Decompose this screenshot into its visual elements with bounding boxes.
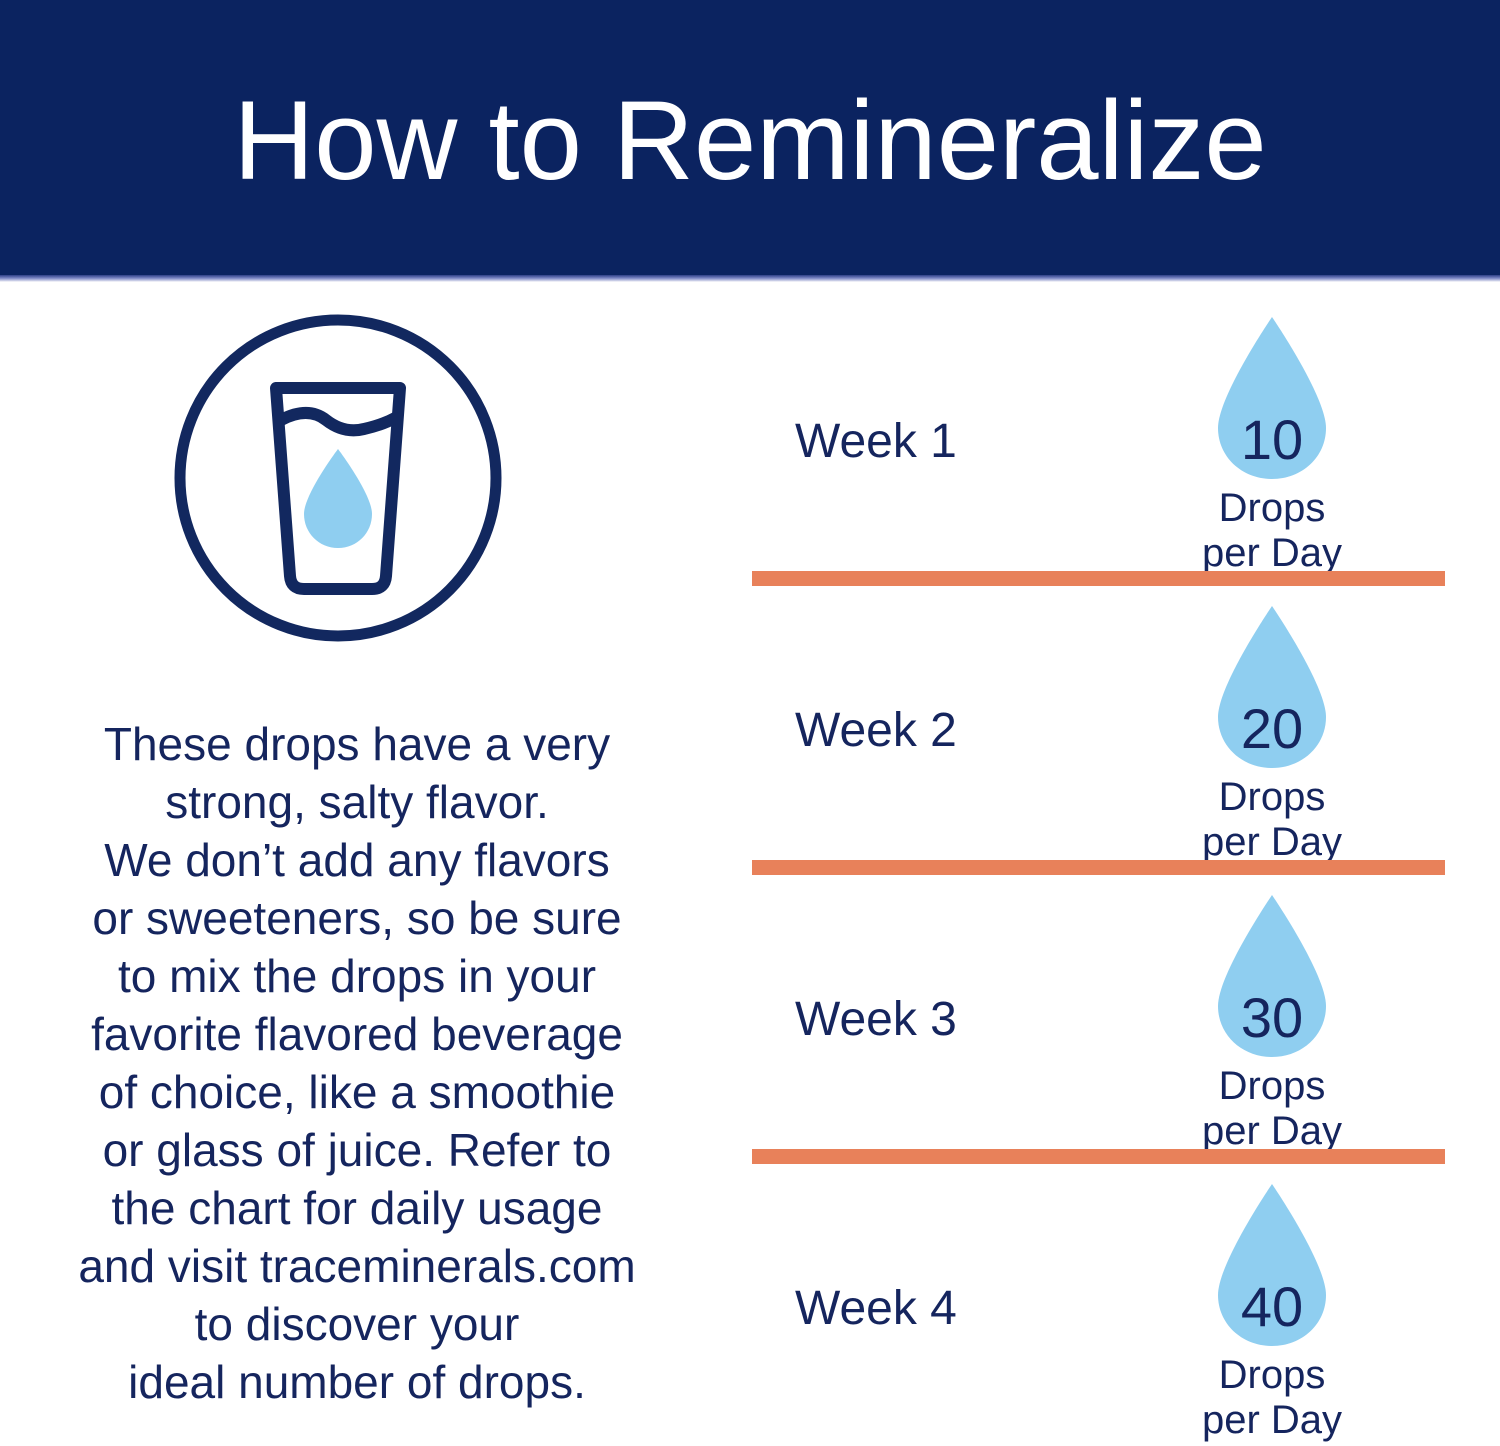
water-drop-icon: 10 bbox=[1213, 314, 1331, 482]
drop-count-value: 20 bbox=[1213, 603, 1331, 771]
water-drop-icon: 20 bbox=[1213, 603, 1331, 771]
water-drop-icon: 40 bbox=[1213, 1181, 1331, 1349]
drop-block: 10 Drops per Day bbox=[1162, 314, 1382, 576]
table-row: Week 3 30 Drops per Day bbox=[710, 868, 1500, 1157]
table-row: Week 1 10 Drops per Day bbox=[710, 290, 1500, 579]
drop-count-value: 10 bbox=[1213, 314, 1331, 482]
drop-caption: Drops per Day bbox=[1162, 1353, 1382, 1443]
drop-caption: Drops per Day bbox=[1162, 1064, 1382, 1154]
week-label: Week 1 bbox=[795, 418, 957, 466]
drop-caption: Drops per Day bbox=[1162, 775, 1382, 865]
left-column: These drops have a very strong, salty fl… bbox=[0, 290, 710, 1445]
drop-count-value: 40 bbox=[1213, 1181, 1331, 1349]
glass-of-water-icon bbox=[168, 308, 508, 648]
drop-count-value: 30 bbox=[1213, 892, 1331, 1060]
water-drop-icon: 30 bbox=[1213, 892, 1331, 1060]
drop-block: 30 Drops per Day bbox=[1162, 892, 1382, 1154]
dosage-schedule: Week 1 10 Drops per Day Week 2 bbox=[710, 290, 1500, 1445]
drop-block: 20 Drops per Day bbox=[1162, 603, 1382, 865]
table-row: Week 2 20 Drops per Day bbox=[710, 579, 1500, 868]
page-title: How to Remineralize bbox=[233, 85, 1266, 197]
drop-caption: Drops per Day bbox=[1162, 486, 1382, 576]
week-label: Week 4 bbox=[795, 1285, 957, 1333]
header-underline-divider bbox=[0, 275, 1500, 282]
week-label: Week 2 bbox=[795, 707, 957, 755]
infographic-page: How to Remineralize These drops have a v… bbox=[0, 0, 1500, 1445]
week-label: Week 3 bbox=[795, 996, 957, 1044]
drop-block: 40 Drops per Day bbox=[1162, 1181, 1382, 1443]
header-banner: How to Remineralize bbox=[0, 0, 1500, 275]
body-paragraph: These drops have a very strong, salty fl… bbox=[12, 715, 702, 1411]
table-row: Week 4 40 Drops per Day bbox=[710, 1157, 1500, 1446]
